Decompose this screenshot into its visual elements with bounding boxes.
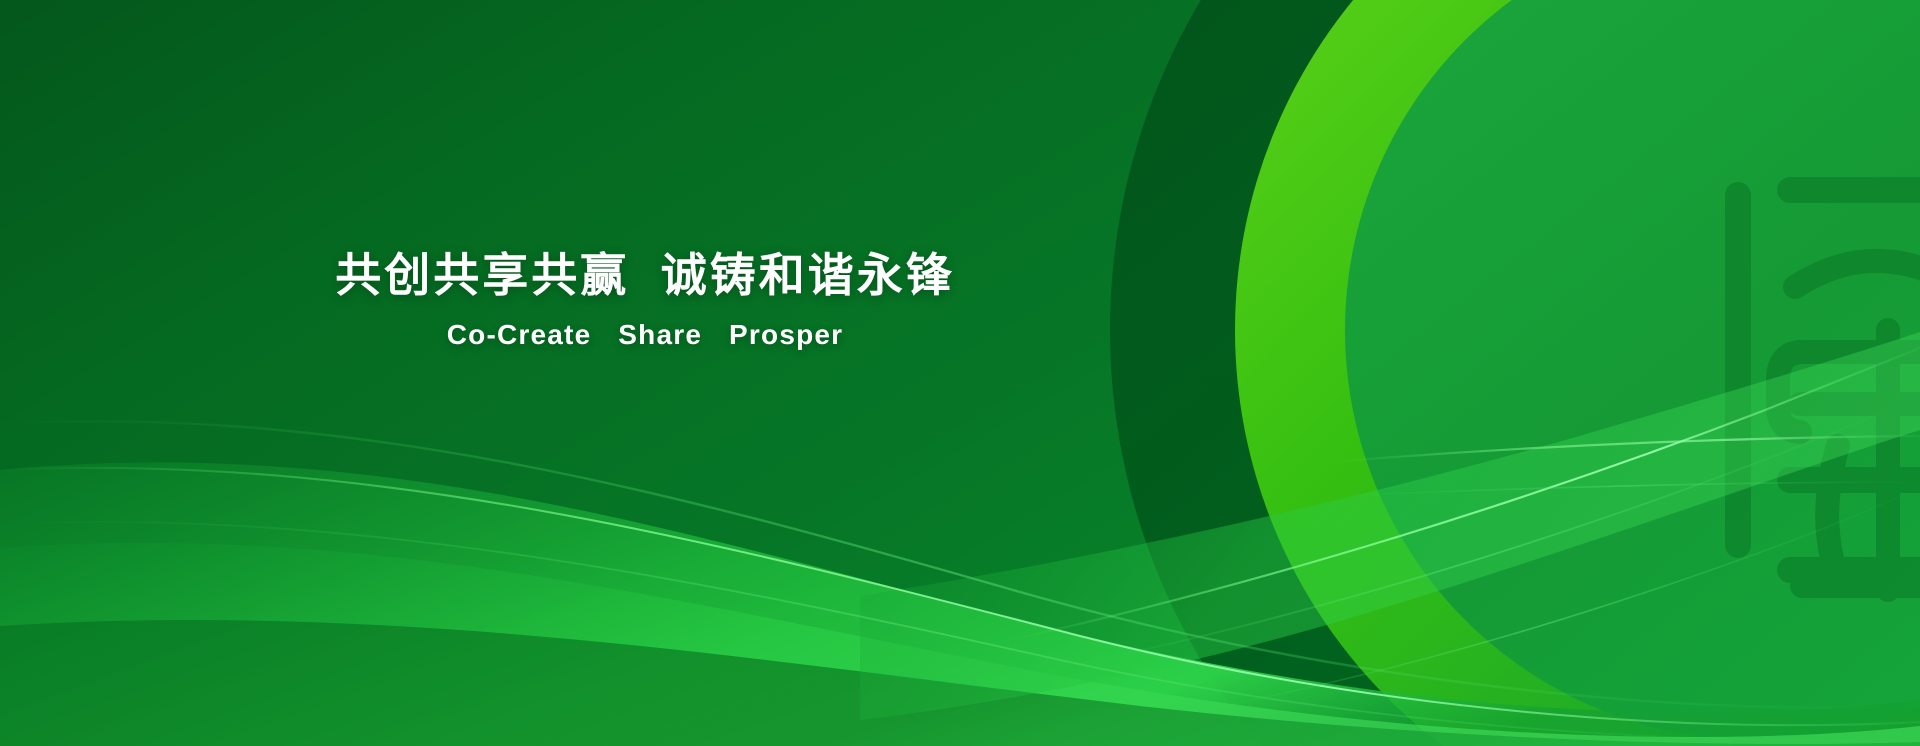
hero-text-block: 共创共享共赢 诚铸和谐永锋 Co-Create Share Prosper (0, 248, 1290, 352)
hero-headline: 共创共享共赢 诚铸和谐永锋 (0, 248, 1290, 302)
banner-hero: 共创共享共赢 诚铸和谐永锋 Co-Create Share Prosper (0, 0, 1920, 746)
hero-subheadline: Co-Create Share Prosper (0, 318, 1290, 352)
background-artwork (0, 0, 1920, 746)
